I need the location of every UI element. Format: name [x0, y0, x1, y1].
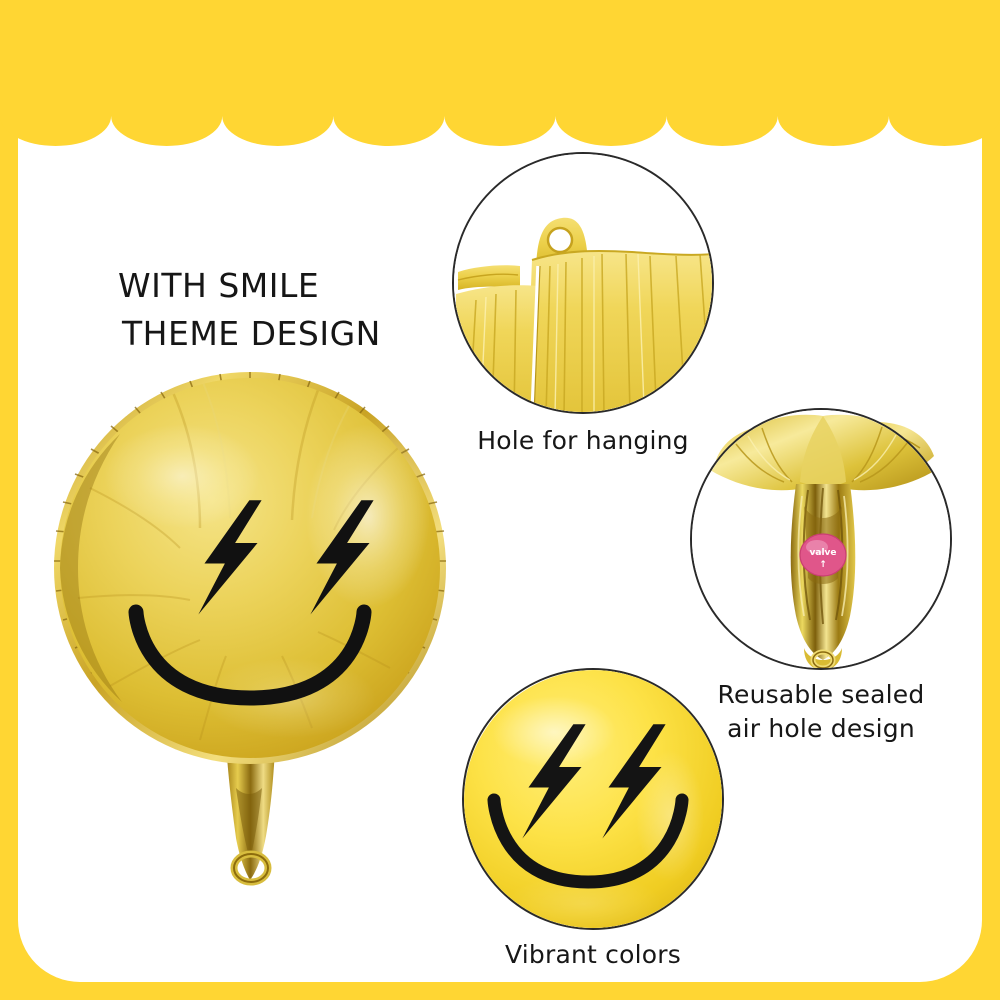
feature-heading: WITH SMILE THEME DESIGN — [118, 262, 448, 358]
caption-hole-for-hanging: Hole for hanging — [433, 424, 733, 458]
feature-heading-line-2: THEME DESIGN — [118, 310, 448, 358]
caption-vibrant-colors: Vibrant colors — [443, 938, 743, 972]
feature-heading-line-1: WITH SMILE — [118, 262, 448, 310]
hanging-tab-photo — [454, 154, 714, 414]
product-details-page: PRODUCT DETAILS WITH SMILE THEME DESIGN — [0, 0, 1000, 1000]
svg-text:↑: ↑ — [819, 560, 827, 570]
main-smiley-balloon — [50, 368, 450, 888]
header-banner — [0, 0, 1000, 112]
valve-sticker: valve ↑ — [800, 534, 846, 576]
caption-valve-line-2: air hole design — [671, 712, 971, 746]
detail-circle-hole-for-hanging — [452, 152, 714, 414]
svg-text:valve: valve — [810, 548, 837, 558]
caption-valve-line-1: Reusable sealed — [671, 678, 971, 712]
caption-reusable-sealed-air-hole: Reusable sealed air hole design — [671, 678, 971, 746]
